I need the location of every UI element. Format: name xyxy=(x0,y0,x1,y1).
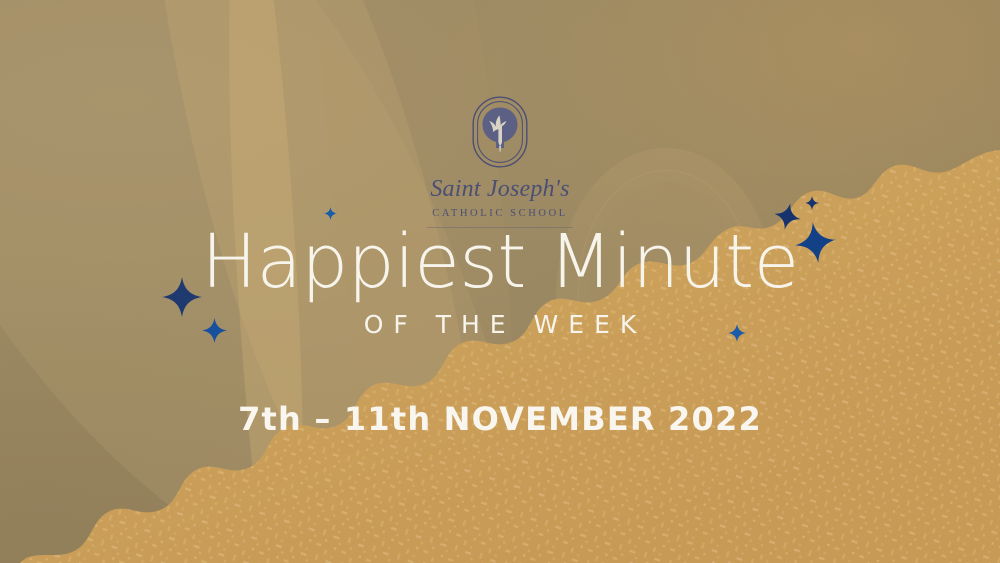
page-title: Happiest Minute xyxy=(0,225,1000,300)
headline-block: Happiest Minute OF THE WEEK xyxy=(0,225,1000,339)
school-name: Saint Joseph's xyxy=(430,177,569,201)
school-type: CATHOLIC SCHOOL xyxy=(432,209,568,220)
saint-joseph-crest-lily-icon xyxy=(472,96,528,168)
date-range: 7th – 11th NOVEMBER 2022 xyxy=(0,400,1000,438)
page-subtitle: OF THE WEEK xyxy=(0,310,1000,339)
school-logo: Saint Joseph's CATHOLIC SCHOOL xyxy=(0,96,1000,228)
poster-canvas: Saint Joseph's CATHOLIC SCHOOL Happiest … xyxy=(0,0,1000,563)
